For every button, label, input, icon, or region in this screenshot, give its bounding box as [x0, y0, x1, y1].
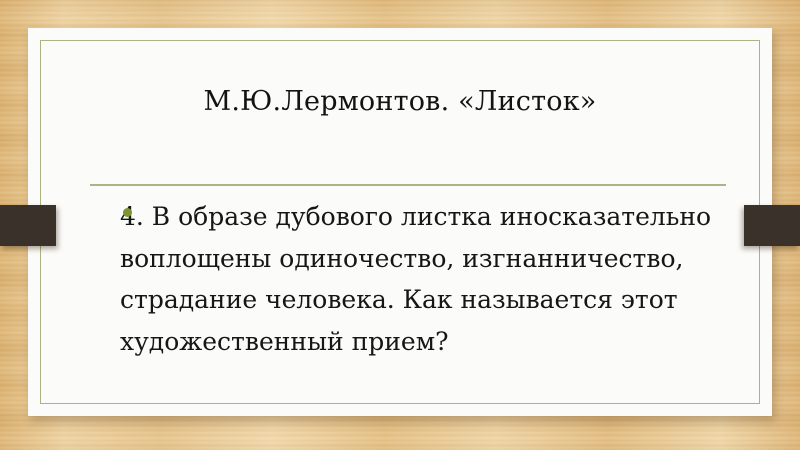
title-divider	[90, 184, 726, 186]
left-accent-bar	[0, 205, 56, 246]
right-accent-bar	[744, 205, 800, 246]
list-item: 4. В образе дубового листка иносказатель…	[98, 196, 758, 362]
page-title: М.Ю.Лермонтов. «Листок»	[88, 86, 712, 117]
bullet-dot-icon	[123, 208, 132, 217]
body-paragraph: 4. В образе дубового листка иносказатель…	[110, 196, 758, 362]
slide-card: М.Ю.Лермонтов. «Листок» 4. В образе дубо…	[28, 28, 772, 416]
body-content: 4. В образе дубового листка иносказатель…	[98, 196, 758, 362]
presentation-slide: М.Ю.Лермонтов. «Листок» 4. В образе дубо…	[0, 0, 800, 450]
